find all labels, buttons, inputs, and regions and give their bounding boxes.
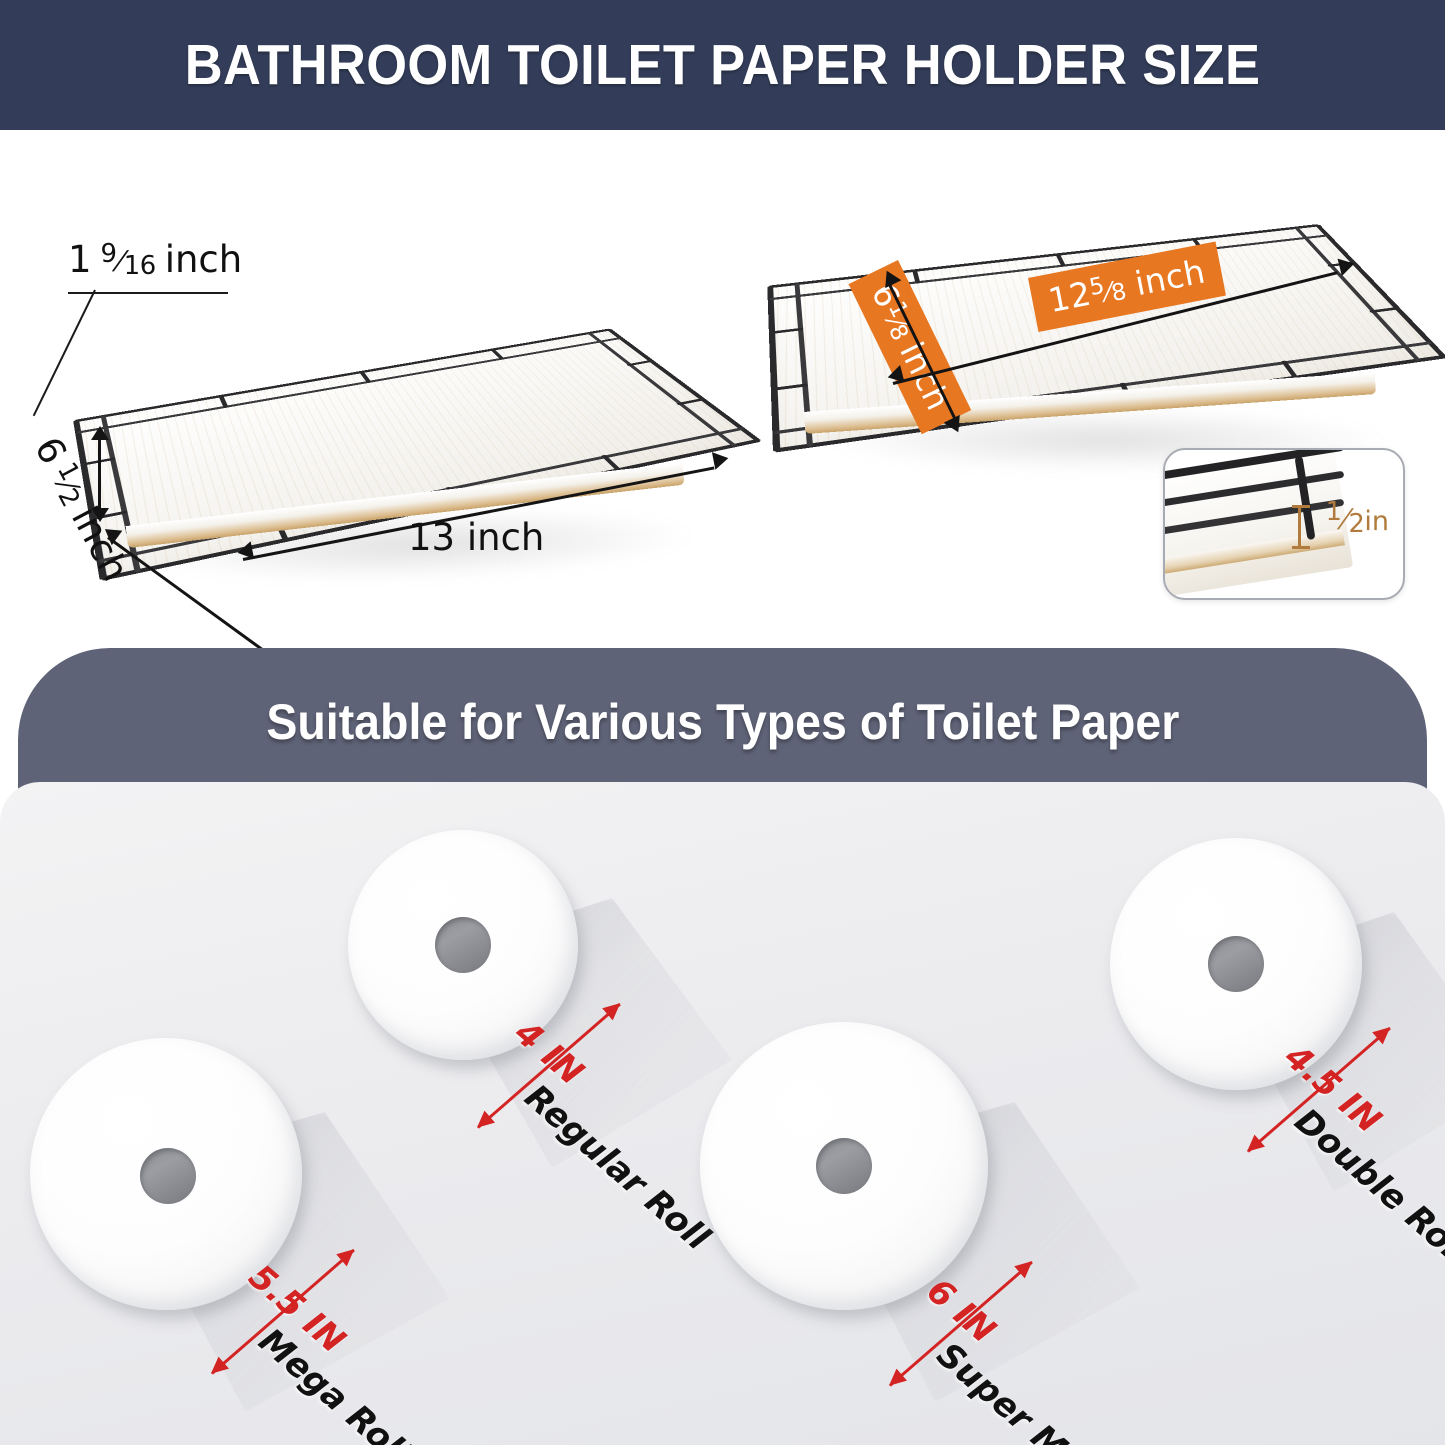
rail-height-closeup-inset: 1/2in <box>1163 448 1405 600</box>
width-arrow-start <box>236 541 254 562</box>
height-arrow-up <box>91 426 109 440</box>
product-infographic: BATHROOM TOILET PAPER HOLDER SIZE <box>0 0 1445 1445</box>
height-leader-line <box>33 290 96 417</box>
roll-name-label: Super Mega Roll <box>929 1335 1191 1445</box>
page-title: BATHROOM TOILET PAPER HOLDER SIZE <box>185 32 1261 98</box>
section-banner: Suitable for Various Types of Toilet Pap… <box>18 648 1427 796</box>
dim-label-width: 13 inch <box>408 516 544 559</box>
banner-title: Suitable for Various Types of Toilet Pap… <box>266 693 1179 751</box>
inset-dimension-label: 1/2in <box>1326 506 1389 537</box>
roll-core-hole <box>140 1148 196 1204</box>
dim-label-height: 19/16inch <box>68 238 242 281</box>
roll-core-hole <box>816 1138 872 1194</box>
inset-caliper-icon <box>1298 506 1317 548</box>
roll-core-hole <box>435 917 491 973</box>
left-tray-illustration <box>89 269 740 621</box>
header-bar: BATHROOM TOILET PAPER HOLDER SIZE <box>0 0 1445 130</box>
roll-core-hole <box>1208 936 1264 992</box>
toilet-paper-rolls-panel: 5.5 IN Mega Roll 4 IN Regular Roll 6 IN … <box>0 782 1445 1445</box>
width-arrow-end <box>712 449 730 470</box>
size-section: 19/16inch 61/2inch 13 inch <box>0 130 1445 640</box>
